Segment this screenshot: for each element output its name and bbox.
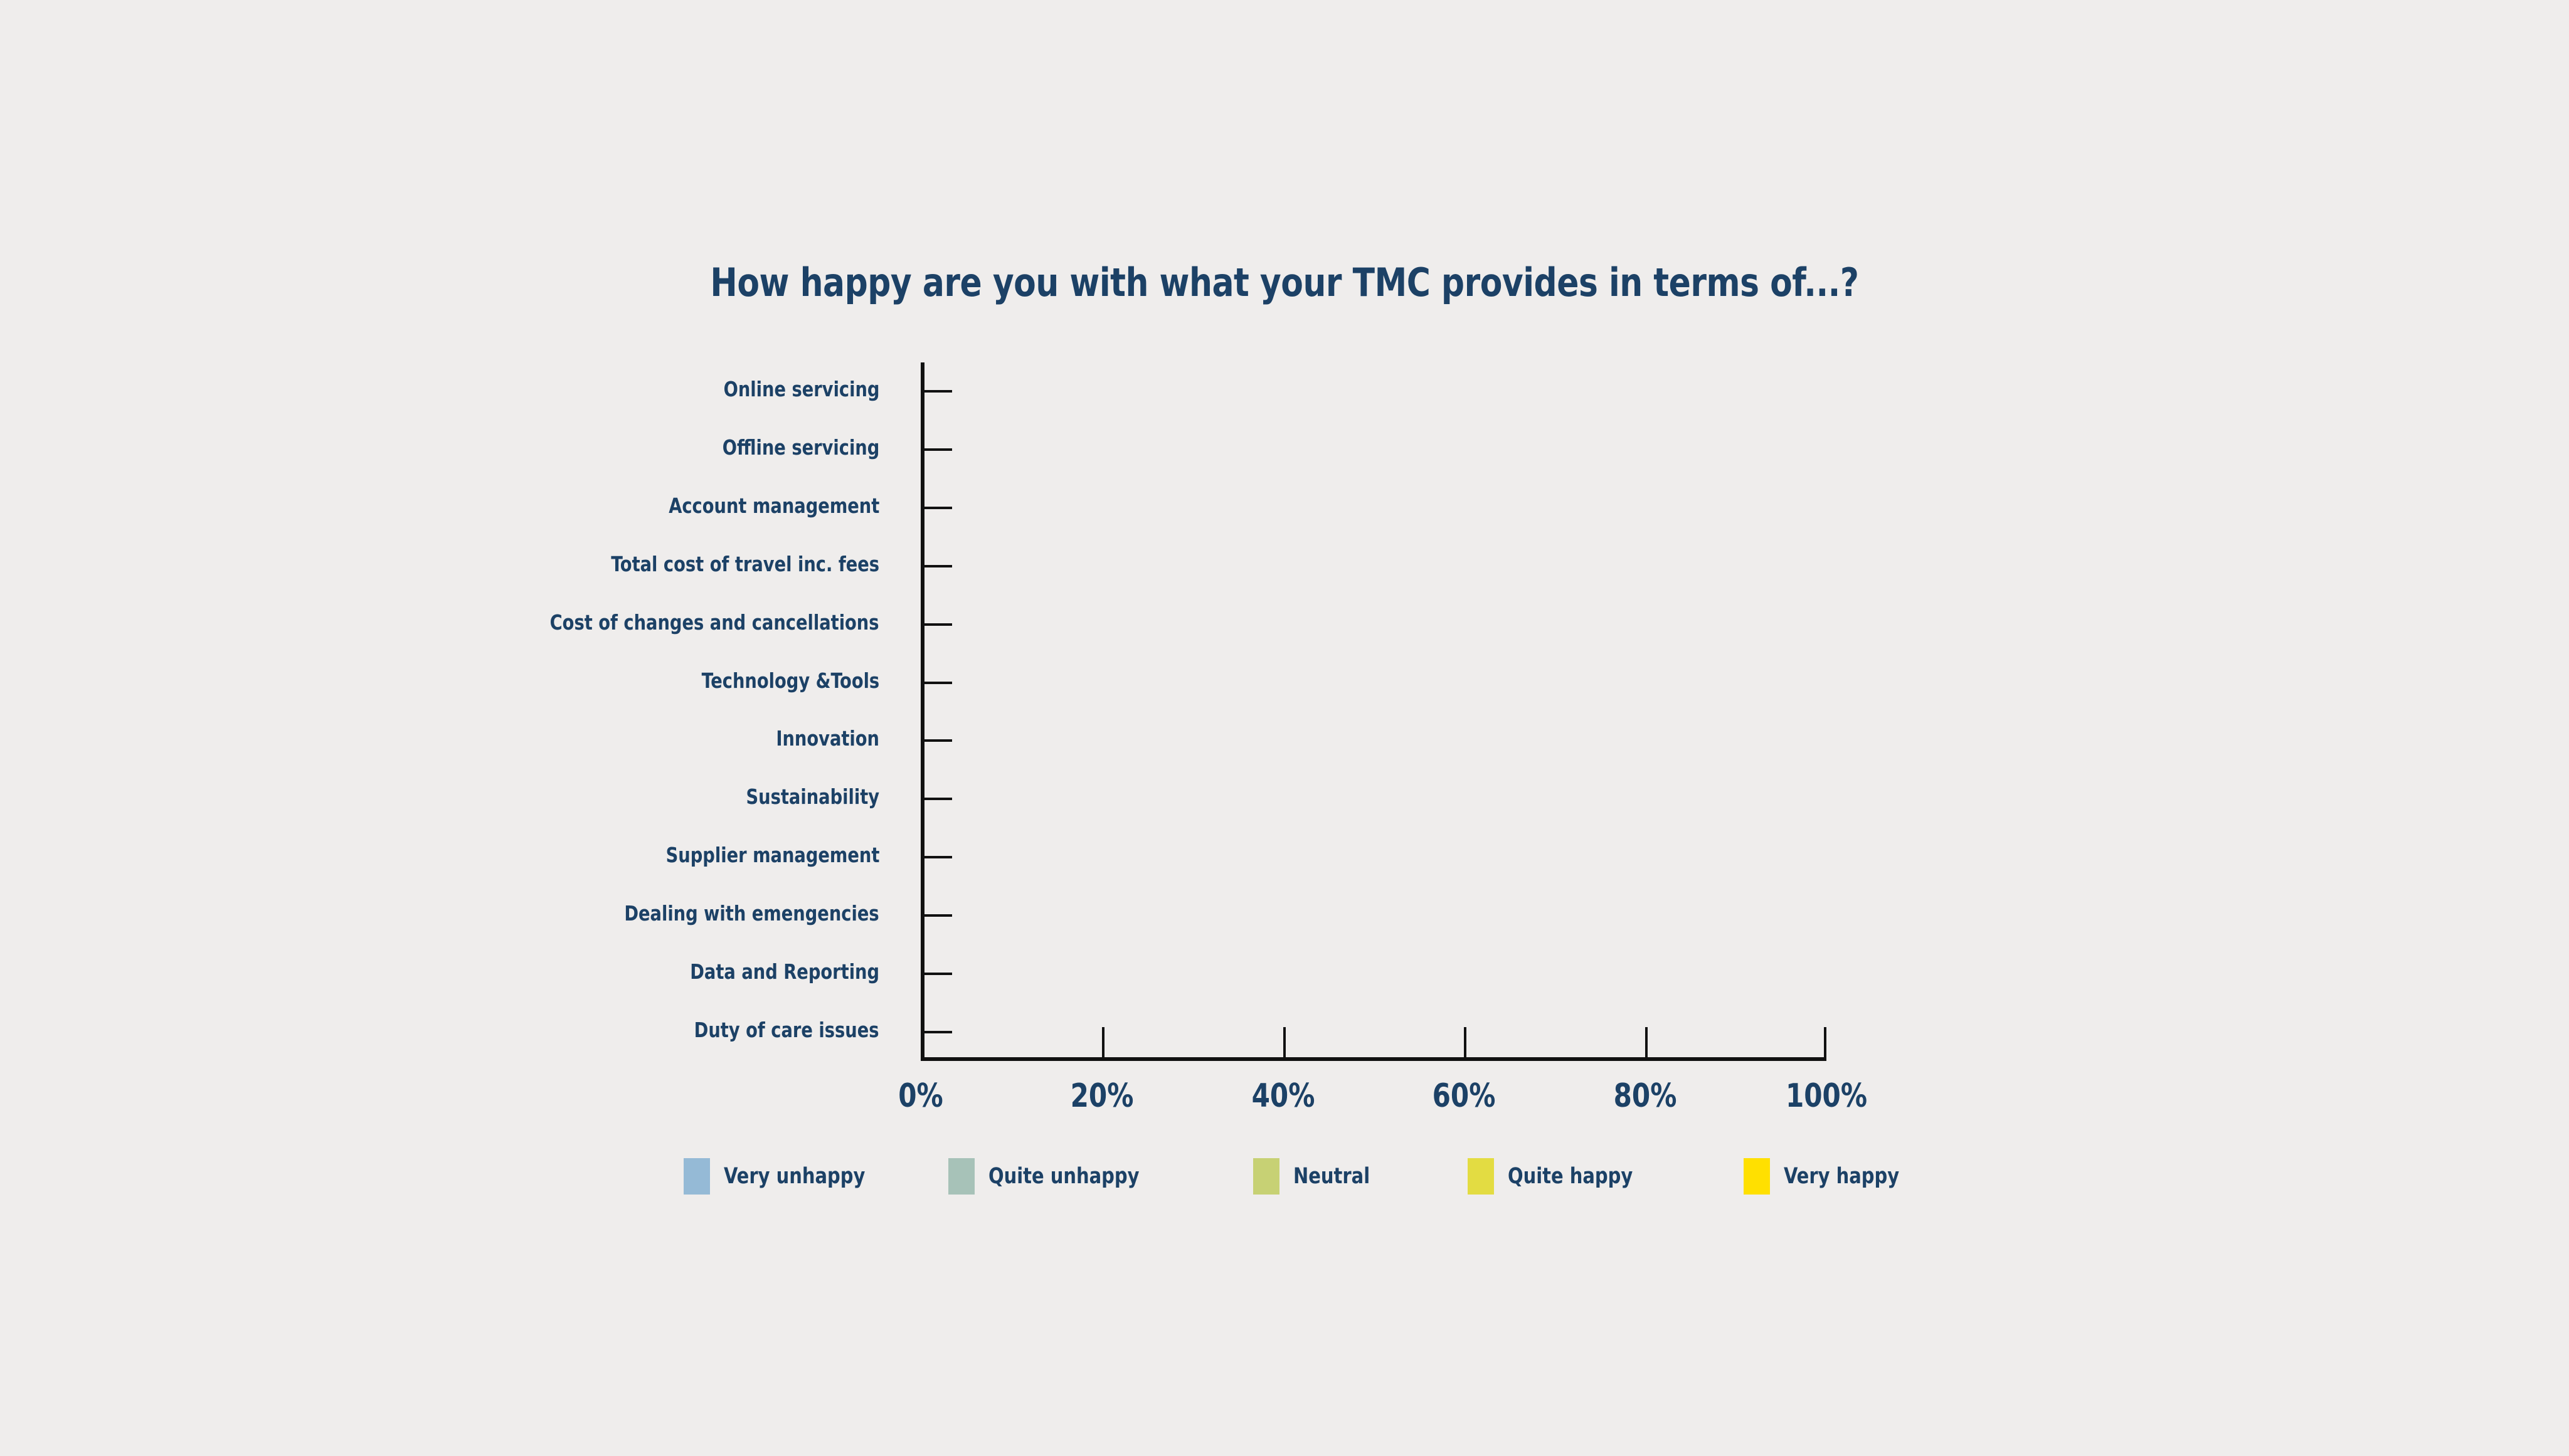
legend-label: Neutral [1293,1166,1370,1188]
y-axis-tick [924,448,952,451]
legend-swatch [1468,1158,1494,1195]
y-axis-label: Innovation [776,728,879,749]
legend-swatch [948,1158,975,1195]
y-axis-label: Sustainability [746,786,879,807]
chart-figure: How happy are you with what your TMC pro… [0,0,2569,1456]
plot-area [921,362,1826,1061]
y-axis-tick [924,623,952,626]
y-axis-tick [924,914,952,917]
legend-swatch [1253,1158,1279,1195]
legend-label: Very unhappy [724,1166,865,1188]
chart-legend: Very unhappyQuite unhappyNeutralQuite ha… [684,1156,1913,1200]
x-axis-tick [1464,1027,1466,1057]
y-axis-label: Cost of changes and cancellations [550,612,879,633]
y-axis-label: Supplier management [665,845,879,865]
x-axis-tick-label: 20% [1070,1080,1133,1112]
legend-item[interactable]: Neutral [1253,1156,1377,1197]
x-axis-tick [1283,1027,1286,1057]
y-axis-label: Dealing with emengencies [625,903,879,924]
legend-swatch [1744,1158,1770,1195]
y-axis-tick [924,1031,952,1033]
legend-label: Quite happy [1508,1166,1633,1188]
x-axis-tick-label: 60% [1433,1080,1496,1112]
legend-item[interactable]: Quite unhappy [948,1156,1152,1197]
legend-item[interactable]: Very happy [1744,1156,1909,1197]
y-axis-tick [924,507,952,509]
x-axis-line [921,1057,1826,1061]
y-axis-tick [924,682,952,684]
y-axis-label: Duty of care issues [694,1020,879,1040]
legend-swatch [684,1158,710,1195]
y-axis-tick [924,565,952,567]
x-axis-tick [1102,1027,1104,1057]
y-axis-tick [924,856,952,858]
y-axis-labels: Online servicingOffline servicingAccount… [0,362,903,1061]
x-axis-tick-label: 0% [898,1080,943,1112]
x-axis-tick [1645,1027,1648,1057]
y-axis-label: Online servicing [723,379,879,399]
y-axis-line [921,362,924,1061]
x-axis-tick-label: 80% [1614,1080,1677,1112]
y-axis-label: Data and Reporting [690,961,879,982]
x-axis-tick [1824,1027,1826,1057]
y-axis-label: Technology &Tools [701,670,879,691]
x-axis-tick-label: 100% [1786,1080,1867,1112]
y-axis-label: Offline servicing [722,437,879,458]
y-axis-tick [924,798,952,800]
x-axis-tick-labels: 0%20%40%60%80%100% [921,1080,1826,1124]
y-axis-label: Account management [669,495,879,516]
legend-label: Quite unhappy [988,1166,1140,1188]
chart-title: How happy are you with what your TMC pro… [90,263,2479,302]
legend-item[interactable]: Quite happy [1468,1156,1644,1197]
y-axis-label: Total cost of travel inc. fees [611,554,879,574]
legend-item[interactable]: Very unhappy [684,1156,877,1197]
y-axis-tick [924,390,952,393]
x-axis-tick [921,1027,923,1057]
y-axis-tick [924,973,952,975]
y-axis-tick [924,739,952,742]
x-axis-tick-label: 40% [1251,1080,1315,1112]
legend-label: Very happy [1784,1166,1899,1188]
